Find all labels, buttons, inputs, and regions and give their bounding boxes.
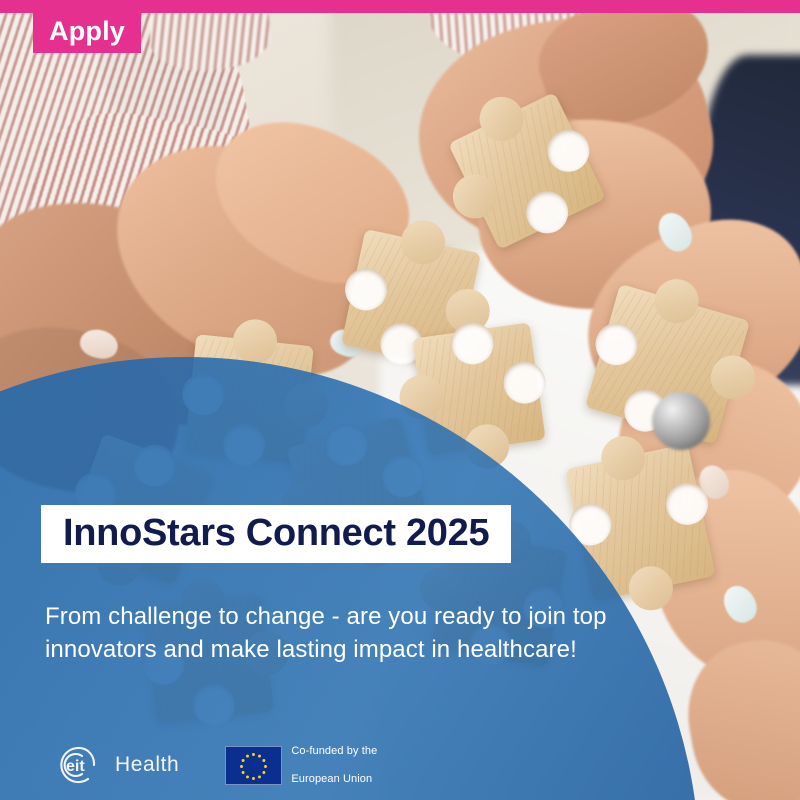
eit-circle-icon: eit <box>44 745 106 785</box>
poster: Apply InnoStars Connect 2025 From challe… <box>0 0 800 800</box>
eu-cofunded-logo: Co-funded by the European Union <box>225 730 377 800</box>
page-subtitle: From challenge to change - are you ready… <box>45 600 625 666</box>
apply-badge[interactable]: Apply <box>33 13 141 53</box>
page-title: InnoStars Connect 2025 <box>63 514 489 552</box>
eit-health-wordmark: Health <box>115 753 179 777</box>
top-pink-bar <box>0 0 800 13</box>
eu-stars-icon <box>226 747 281 784</box>
svg-text:eit: eit <box>66 758 85 775</box>
eu-text-line1: Co-funded by the <box>291 744 377 758</box>
eu-cofunded-text: Co-funded by the European Union <box>291 730 377 800</box>
eit-health-logo: eit Health <box>44 745 179 785</box>
eu-flag-icon <box>225 746 282 785</box>
eu-text-line2: European Union <box>291 772 377 786</box>
logo-row: eit Health <box>44 730 377 800</box>
title-band: InnoStars Connect 2025 <box>41 505 511 563</box>
